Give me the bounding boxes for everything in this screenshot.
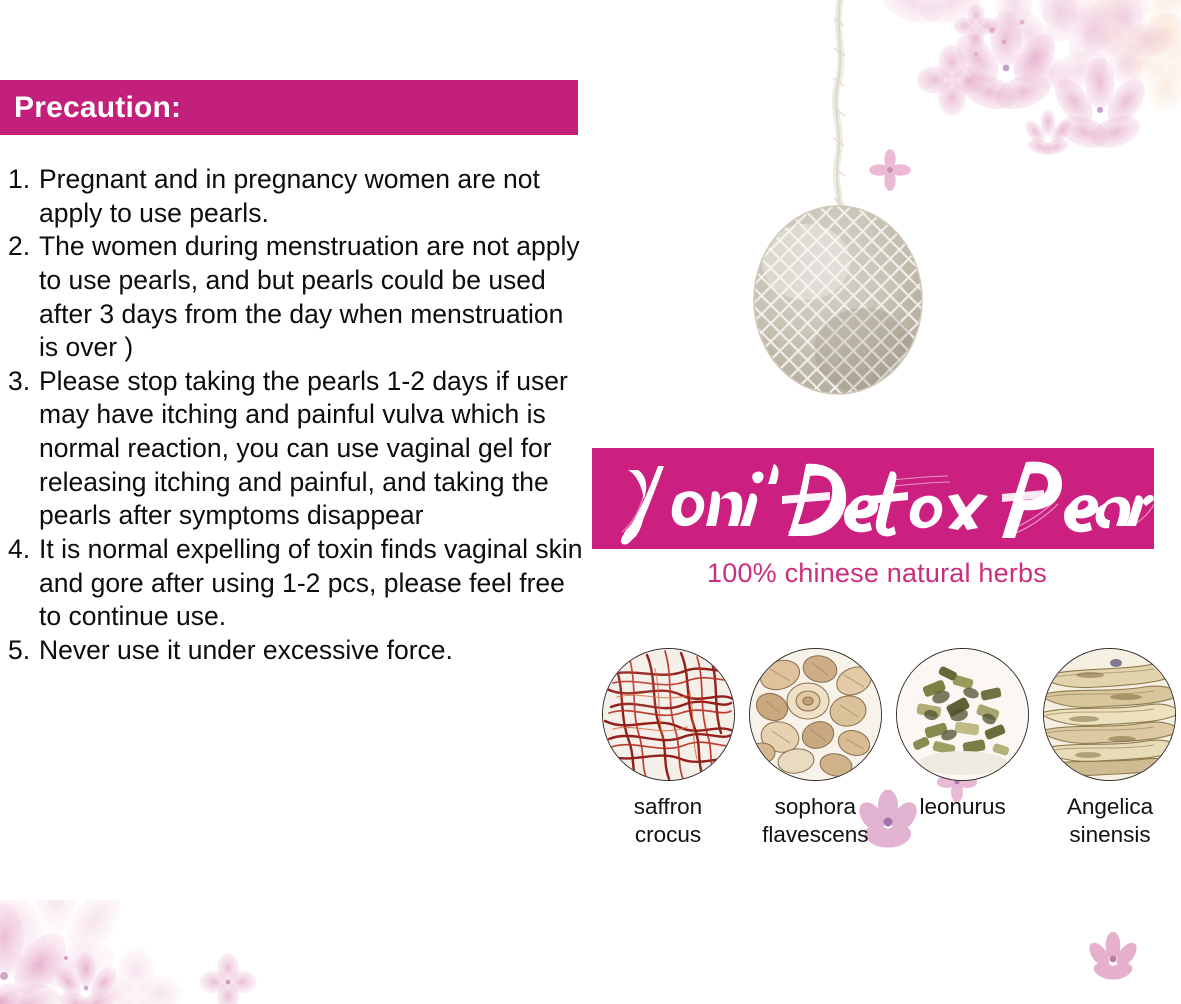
herb-label: sophora flavescens: [762, 793, 868, 849]
list-item: 5. Never use it under excessive force.: [8, 634, 586, 668]
list-item: 4. It is normal expelling of toxin finds…: [8, 533, 586, 634]
precaution-header-bar: Precaution:: [0, 80, 578, 135]
list-item-text: Please stop taking the pearls 1-2 days i…: [39, 365, 586, 533]
brand-tagline: 100% chinese natural herbs: [592, 558, 1162, 589]
list-item-text: The women during menstruation are not ap…: [39, 230, 586, 365]
herb-ingredients-row: saffron crocus: [600, 648, 1178, 849]
product-infographic: Precaution: 1. Pregnant and in pregnancy…: [0, 0, 1181, 1004]
sophora-flavescens-image: [749, 648, 882, 781]
brand-banner: [592, 448, 1154, 549]
list-item: 3. Please stop taking the pearls 1-2 day…: [8, 365, 586, 533]
herb-label-line1: leonurus: [920, 793, 1006, 821]
brand-name-script: [592, 448, 1154, 549]
yoni-detox-pearl-photo: [688, 0, 988, 440]
herb-label: leonurus: [920, 793, 1006, 821]
herb-label-line2: sinensis: [1067, 821, 1153, 849]
list-item-text: It is normal expelling of toxin finds va…: [39, 533, 586, 634]
list-item-number: 1.: [8, 163, 39, 197]
herb-label-line1: sophora: [762, 793, 868, 821]
angelica-sinensis-image: [1043, 648, 1176, 781]
herb-label: Angelica sinensis: [1067, 793, 1153, 849]
list-item-number: 5.: [8, 634, 39, 668]
precaution-column: Precaution: 1. Pregnant and in pregnancy…: [0, 0, 592, 1004]
precaution-list: 1. Pregnant and in pregnancy women are n…: [8, 163, 586, 668]
herb-item-saffron-crocus: saffron crocus: [600, 648, 736, 849]
herb-item-leonurus: leonurus: [895, 648, 1031, 849]
herb-label-line1: Angelica: [1067, 793, 1153, 821]
page-title: Precaution:: [0, 91, 181, 125]
leonurus-image: [896, 648, 1029, 781]
product-column: 100% chinese natural herbs: [592, 0, 1181, 1004]
herb-item-sophora-flavescens: sophora flavescens: [747, 648, 883, 849]
list-item-number: 3.: [8, 365, 39, 399]
herb-label: saffron crocus: [634, 793, 702, 849]
list-item-number: 4.: [8, 533, 39, 567]
list-item-text: Pregnant and in pregnancy women are not …: [39, 163, 586, 230]
list-item-text: Never use it under excessive force.: [39, 634, 586, 668]
herb-label-line2: flavescens: [762, 821, 868, 849]
herb-label-line2: crocus: [634, 821, 702, 849]
list-item-number: 2.: [8, 230, 39, 264]
list-item: 1. Pregnant and in pregnancy women are n…: [8, 163, 586, 230]
saffron-crocus-image: [602, 648, 735, 781]
herb-label-line1: saffron: [634, 793, 702, 821]
list-item: 2. The women during menstruation are not…: [8, 230, 586, 365]
herb-item-angelica-sinensis: Angelica sinensis: [1042, 648, 1178, 849]
